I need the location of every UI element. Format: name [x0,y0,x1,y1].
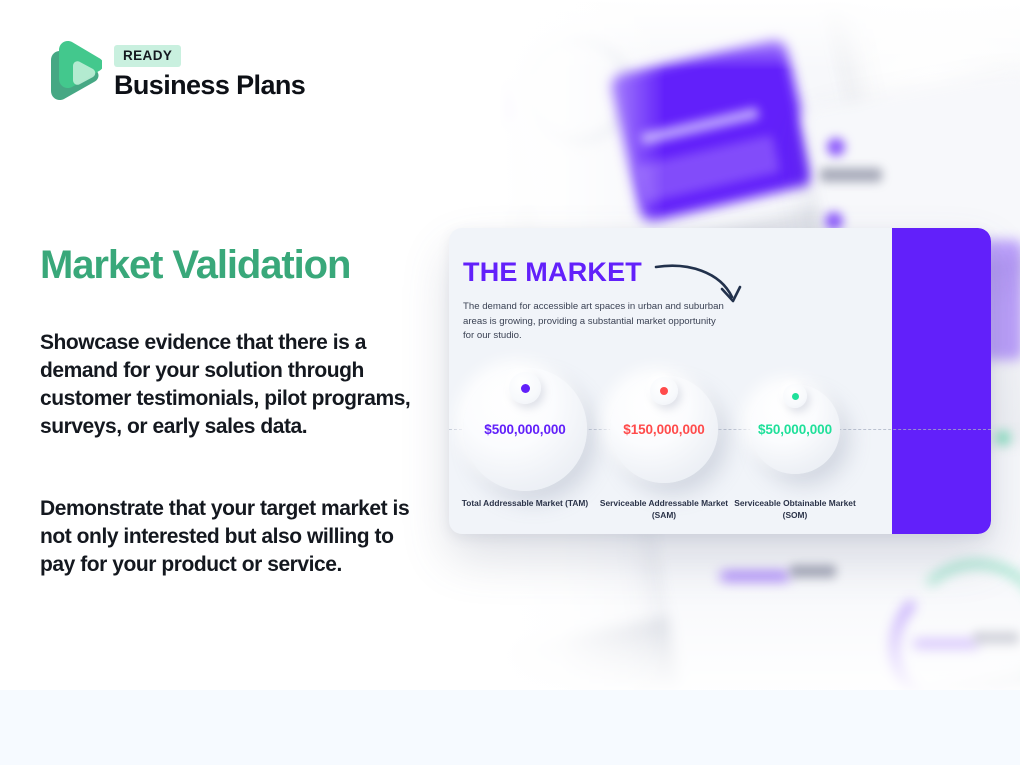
orb-label-sam: Serviceable Addressable Market (SAM) [597,498,731,521]
body-paragraph-2: Demonstrate that your target market is n… [40,495,412,579]
orb-value-tam: $500,000,000 [463,422,587,437]
page-title: Market Validation [40,243,350,288]
orb-nub-som [783,384,807,408]
orb-dot-tam [521,384,530,393]
blurred-green-dot-right [995,430,1011,446]
body-paragraph-1: Showcase evidence that there is a demand… [40,329,412,441]
orb-value-som: $50,000,000 [740,422,850,437]
orb-value-sam: $150,000,000 [604,422,724,437]
orb-label-som: Serviceable Obtainable Market (SOM) [732,498,858,521]
slide-title: THE MARKET [463,257,642,288]
blurred-caption-a [820,168,882,182]
bottom-strip [0,690,1020,765]
orb-label-tam: Total Addressable Market (TAM) [455,498,595,510]
orb-nub-sam [650,377,678,405]
orb-dot-sam [660,387,668,395]
brand-name: Business Plans [114,70,305,101]
slide-canvas: THE MARKET The demand for accessible art… [0,0,1020,765]
blurred-purple-dot-a [827,138,845,156]
brand-lockup[interactable]: READY Business Plans [40,40,305,106]
left-content-panel: READY Business Plans Market Validation S… [0,0,440,690]
curved-arrow-down-right-icon [654,261,764,316]
market-slide-card[interactable]: THE MARKET The demand for accessible art… [449,228,991,534]
orb-nub-tam [509,372,541,404]
play-triangle-logo-icon [40,40,102,106]
ready-badge: READY [114,45,181,67]
orb-dot-som [792,393,799,400]
brand-text-stack: READY Business Plans [114,45,305,101]
market-funnel: $500,000,000 Total Addressable Market (T… [449,360,991,510]
